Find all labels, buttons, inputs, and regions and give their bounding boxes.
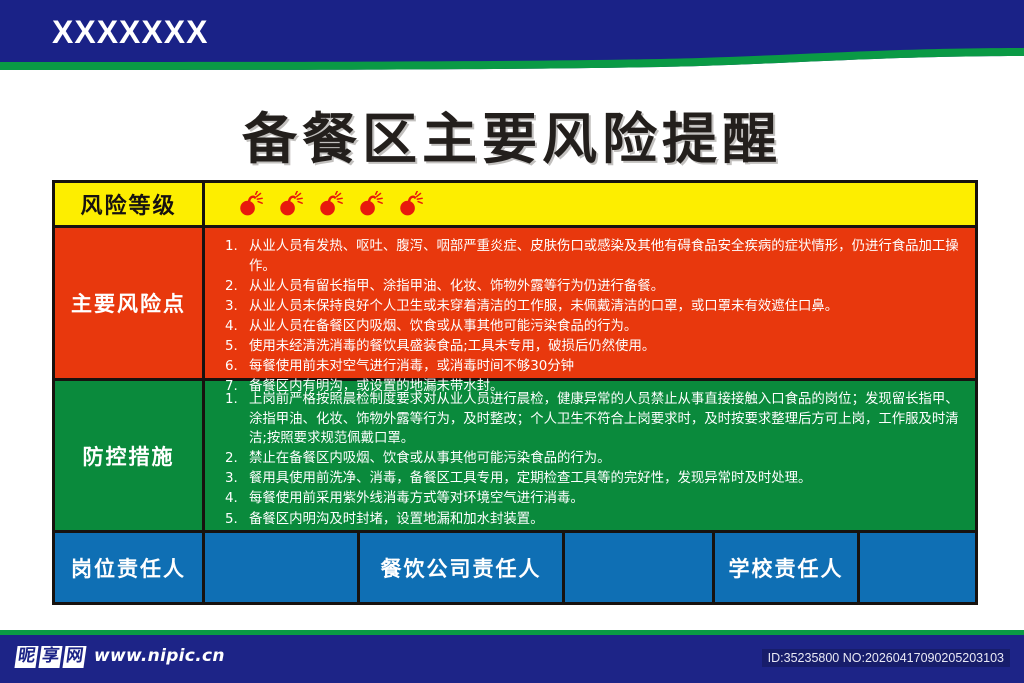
risk-table: 风险等级 <box>52 180 978 605</box>
asset-id-text: ID:35235800 NO:20260417090205203103 <box>762 649 1010 667</box>
list-item: 使用未经清洗消毒的餐饮具盛装食品;工具未专用，破损后仍然使用。 <box>225 337 963 357</box>
risk-points-list: 从业人员有发热、呕吐、腹泻、咽部严重炎症、皮肤伤口或感染及其他有碍食品安全疾病的… <box>225 237 963 397</box>
site-url[interactable]: www.nipic.cn <box>94 646 225 666</box>
list-item: 禁止在备餐区内吸烟、饮食或从事其他可能污染食品的行为。 <box>225 449 963 469</box>
responsibility-value-school[interactable] <box>860 533 975 602</box>
risk-level-rating <box>205 183 975 225</box>
bomb-icon <box>357 191 383 217</box>
table-row-responsibility: 岗位责任人 餐饮公司责任人 学校责任人 <box>55 530 975 602</box>
list-item: 从业人员有留长指甲、涂指甲油、化妆、饰物外露等行为仍进行备餐。 <box>225 277 963 297</box>
control-measures-body: 上岗前严格按照晨检制度要求对从业人员进行晨检，健康异常的人员禁止从事直接接触入口… <box>205 381 975 530</box>
logo-char: 享 <box>38 646 62 668</box>
bomb-icon <box>237 191 263 217</box>
page-header: XXXXXXX <box>0 0 1024 72</box>
table-row-control-measures: 防控措施 上岗前严格按照晨检制度要求对从业人员进行晨检，健康异常的人员禁止从事直… <box>55 378 975 530</box>
org-title: XXXXXXX <box>52 14 208 51</box>
risk-points-label: 主要风险点 <box>55 228 205 378</box>
logo-char: 网 <box>62 646 86 668</box>
control-measures-list: 上岗前严格按照晨检制度要求对从业人员进行晨检，健康异常的人员禁止从事直接接触入口… <box>225 390 963 529</box>
responsibility-value-catering-company[interactable] <box>565 533 715 602</box>
bomb-icon <box>317 191 343 217</box>
site-logo[interactable]: 昵 享 网 www.nipic.cn <box>16 646 225 668</box>
list-item: 从业人员在备餐区内吸烟、饮食或从事其他可能污染食品的行为。 <box>225 317 963 337</box>
bomb-icon <box>277 191 303 217</box>
page-title: 备餐区主要风险提醒 <box>0 94 1024 174</box>
logo-char: 昵 <box>14 646 38 668</box>
list-item: 从业人员未保持良好个人卫生或未穿着清洁的工作服，未佩戴清洁的口罩，或口罩未有效遮… <box>225 297 963 317</box>
page-footer: 昵 享 网 www.nipic.cn ID:35235800 NO:202604… <box>0 630 1024 683</box>
logo-characters: 昵 享 网 <box>16 646 85 668</box>
responsibility-label-post: 岗位责任人 <box>55 533 205 602</box>
control-measures-label: 防控措施 <box>55 381 205 530</box>
responsibility-label-school: 学校责任人 <box>715 533 860 602</box>
list-item: 从业人员有发热、呕吐、腹泻、咽部严重炎症、皮肤伤口或感染及其他有碍食品安全疾病的… <box>225 237 963 276</box>
bomb-icon <box>397 191 423 217</box>
risk-points-body: 从业人员有发热、呕吐、腹泻、咽部严重炎症、皮肤伤口或感染及其他有碍食品安全疾病的… <box>205 228 975 378</box>
list-item: 备餐区内明沟及时封堵，设置地漏和加水封装置。 <box>225 510 963 530</box>
risk-level-label: 风险等级 <box>55 183 205 225</box>
list-item: 每餐使用前采用紫外线消毒方式等对环境空气进行消毒。 <box>225 489 963 509</box>
list-item: 上岗前严格按照晨检制度要求对从业人员进行晨检，健康异常的人员禁止从事直接接触入口… <box>225 390 963 449</box>
list-item: 每餐使用前未对空气进行消毒，或消毒时间不够30分钟 <box>225 357 963 377</box>
table-row-risk-points: 主要风险点 从业人员有发热、呕吐、腹泻、咽部严重炎症、皮肤伤口或感染及其他有碍食… <box>55 225 975 378</box>
list-item: 餐用具使用前洗净、消毒，备餐区工具专用，定期检查工具等的完好性，发现异常时及时处… <box>225 469 963 489</box>
table-row-risk-level: 风险等级 <box>55 183 975 225</box>
responsibility-value-post[interactable] <box>205 533 360 602</box>
responsibility-label-catering-company: 餐饮公司责任人 <box>360 533 565 602</box>
